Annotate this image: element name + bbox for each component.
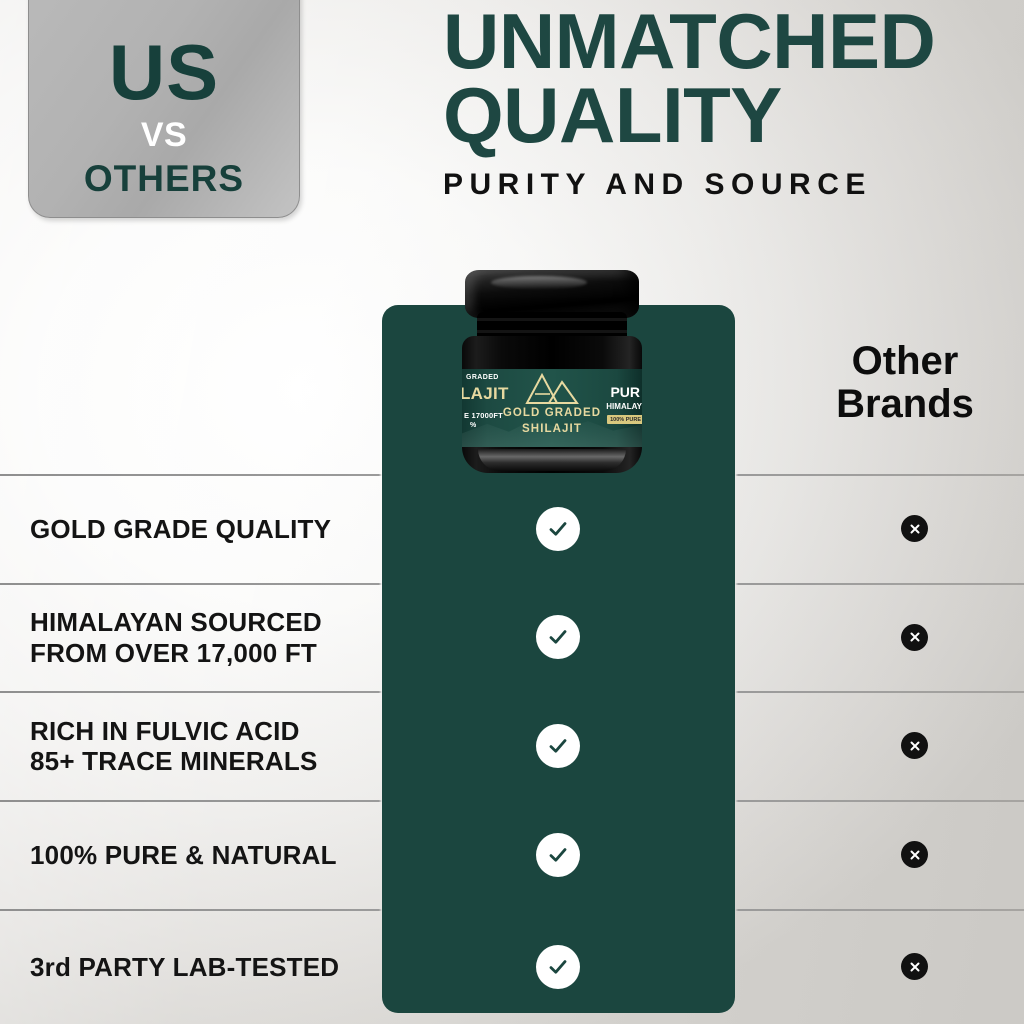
feature-label: 100% PURE & NATURAL [30, 840, 337, 871]
table-row: 100% PURE & NATURAL [0, 800, 1024, 909]
table-row: 3rd PARTY LAB-TESTED [0, 909, 1024, 1024]
check-glyph [546, 843, 570, 867]
row-divider [0, 800, 1024, 802]
cross-glyph [908, 630, 922, 644]
row-divider [0, 474, 1024, 476]
feature-label: 3rd PARTY LAB-TESTED [30, 952, 339, 983]
other-brands-cross-icon [901, 732, 928, 759]
check-glyph [546, 955, 570, 979]
feature-label: GOLD GRADE QUALITY [30, 514, 331, 545]
cross-glyph [908, 848, 922, 862]
ours-check-icon [536, 833, 580, 877]
other-brands-cross-icon [901, 624, 928, 651]
ours-check-icon [536, 507, 580, 551]
check-glyph [546, 517, 570, 541]
cross-glyph [908, 522, 922, 536]
check-glyph [546, 625, 570, 649]
table-row: RICH IN FULVIC ACID 85+ TRACE MINERALS [0, 691, 1024, 800]
ours-check-icon [536, 945, 580, 989]
ours-check-icon [536, 615, 580, 659]
other-brands-cross-icon [901, 841, 928, 868]
table-row: GOLD GRADE QUALITY [0, 474, 1024, 583]
row-divider [0, 583, 1024, 585]
ours-check-icon [536, 724, 580, 768]
comparison-rows: GOLD GRADE QUALITYHIMALAYAN SOURCED FROM… [0, 0, 1024, 1024]
table-row: HIMALAYAN SOURCED FROM OVER 17,000 FT [0, 583, 1024, 691]
feature-label: HIMALAYAN SOURCED FROM OVER 17,000 FT [30, 607, 322, 668]
cross-glyph [908, 960, 922, 974]
other-brands-cross-icon [901, 515, 928, 542]
row-divider [0, 691, 1024, 693]
cross-glyph [908, 739, 922, 753]
comparison-infographic: US VS OTHERS UNMATCHED QUALITY PURITY AN… [0, 0, 1024, 1024]
other-brands-cross-icon [901, 953, 928, 980]
feature-label: RICH IN FULVIC ACID 85+ TRACE MINERALS [30, 716, 317, 777]
row-divider [0, 909, 1024, 911]
check-glyph [546, 734, 570, 758]
